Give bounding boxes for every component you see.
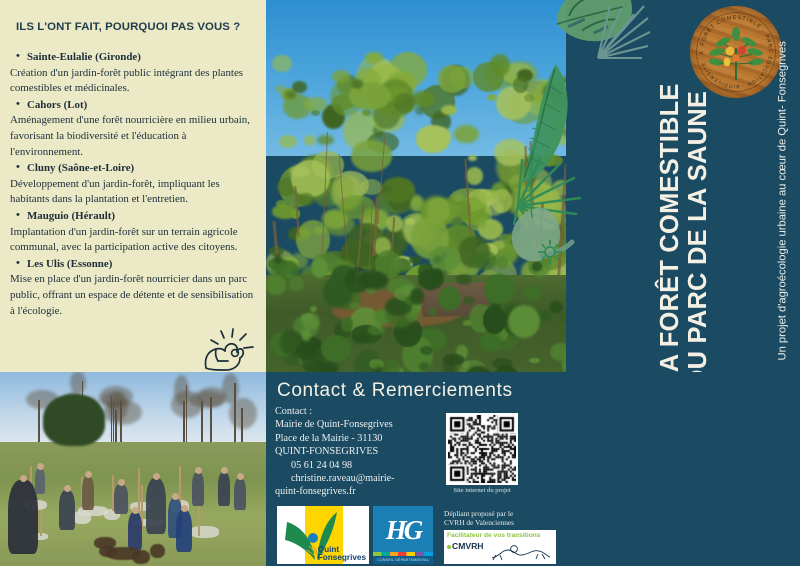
- example-description: Développement d'un jardin-forêt, impliqu…: [10, 177, 260, 208]
- examples-heading: ILS L'ONT FAIT, POURQUOI PAS VOUS ?: [16, 21, 256, 33]
- qr-caption: Site internet du projet: [446, 487, 518, 494]
- logo-haute-garonne: HG CONSEIL DÉPARTEMENTAL HAUTE-GARONNE: [373, 506, 433, 564]
- contact-label: Contact :: [275, 405, 455, 418]
- cover-subtitle: Un projet d'agroécologie urbaine au cœur…: [776, 31, 791, 361]
- example-place: Cluny (Saône-et-Loire): [27, 161, 260, 177]
- cmvrh-squiggle-icon: [490, 544, 552, 562]
- forest-photo: [266, 0, 566, 372]
- contact-org: Mairie de Quint-Fonsegrives: [275, 418, 455, 431]
- example-description: Implantation d'un jardin-forêt sur un te…: [10, 225, 260, 256]
- pointing-hand-icon: [202, 327, 260, 371]
- contact-phone[interactable]: 05 61 24 04 98: [275, 459, 455, 472]
- example-place: Cahors (Lot): [27, 98, 260, 114]
- contact-city: QUINT-FONSEGRIVES: [275, 445, 455, 458]
- cmvrh-dot-icon: [447, 545, 451, 549]
- logo-cmvrh: Facilitateur de vos transitions CMVRH: [444, 530, 556, 564]
- contact-details: Contact : Mairie de Quint-Fonsegrives Pl…: [275, 405, 455, 499]
- examples-panel: ILS L'ONT FAIT, POURQUOI PAS VOUS ? Sain…: [0, 0, 266, 372]
- logo-hg-footer: CONSEIL DÉPARTEMENTAL HAUTE-GARONNE: [373, 556, 433, 564]
- qr-code[interactable]: [446, 413, 518, 485]
- example-description: Création d'un jardin-forêt public intégr…: [10, 66, 260, 97]
- brochure-page: FORÊT COMESTIBLE · PARC DE LA SAUNE ÉDUC…: [0, 0, 800, 566]
- planting-day-photo: [0, 372, 266, 566]
- examples-list: Sainte-Eulalie (Gironde)Création d'un ja…: [10, 50, 260, 320]
- contact-email-line2[interactable]: quint-fonsegrives.fr: [275, 485, 455, 498]
- photo-canopy: [266, 52, 566, 312]
- example-place: Sainte-Eulalie (Gironde): [27, 50, 260, 66]
- cover-title: LA FORÊT COMESTIBLE DU PARC DE LA SAUNE: [656, 28, 712, 388]
- logo-hg-mark: HG: [379, 510, 427, 550]
- contact-address: Place de la Mairie - 31130: [275, 432, 455, 445]
- example-description: Mise en place d'un jardin-forêt nourrici…: [10, 272, 260, 319]
- credit-note: Dépliant proposé par le CVRH de Valencie…: [444, 509, 556, 528]
- cover-title-wrap: LA FORÊT COMESTIBLE DU PARC DE LA SAUNE …: [566, 0, 800, 372]
- cmvrh-name: CMVRH: [447, 541, 484, 551]
- example-description: Aménagement d'une forêt nourricière en m…: [10, 113, 260, 160]
- logo-quint-fonsegrives: QuintFonsegrives: [277, 506, 369, 564]
- logo-quint-text: QuintFonsegrives: [318, 546, 366, 563]
- contact-title: Contact & Remerciements: [277, 380, 557, 402]
- example-place: Mauguio (Hérault): [27, 209, 260, 225]
- credit-line-1: Dépliant proposé par le: [444, 509, 556, 518]
- example-place: Les Ulis (Essonne): [27, 257, 260, 273]
- cmvrh-tagline: Facilitateur de vos transitions: [447, 532, 540, 539]
- qr-code-block[interactable]: Site internet du projet: [446, 413, 518, 494]
- contact-email-line1[interactable]: christine.raveau@mairie-: [275, 472, 455, 485]
- credit-line-2: CVRH de Valenciennes: [444, 518, 556, 527]
